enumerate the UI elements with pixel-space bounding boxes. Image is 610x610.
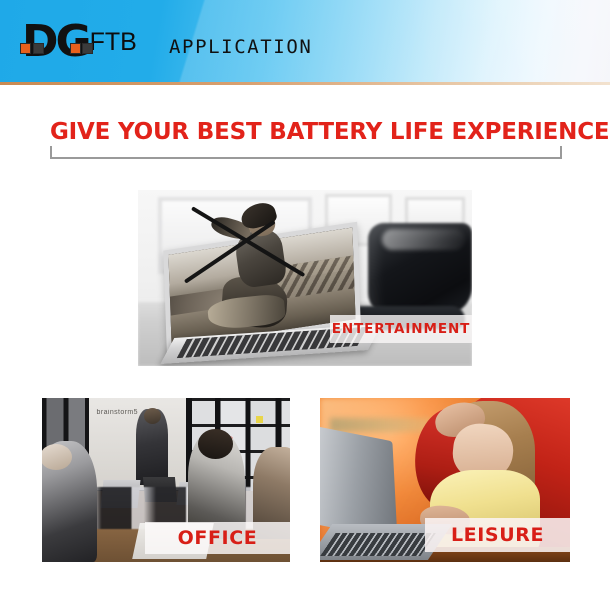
game-character-figure: [201, 195, 318, 332]
logo-square-icon: [70, 43, 81, 54]
headline-banner: GIVE YOUR BEST BATTERY LIFE EXPERIENCE: [50, 126, 562, 159]
logo-square-icon: [20, 43, 31, 54]
character-fallen-body-shape: [207, 293, 287, 331]
logo-dg-mark: DG: [22, 23, 89, 61]
brand-logo[interactable]: DG FTB: [22, 20, 137, 64]
page-header: DG FTB APPLICATION: [0, 0, 610, 82]
logo-ftb-text: FTB: [90, 28, 137, 57]
attendee-head-shape: [198, 429, 233, 459]
office-chair-highlight: [382, 229, 466, 250]
office-label-text: OFFICE: [178, 527, 258, 549]
logo-dg-text: DG: [22, 16, 89, 67]
office-photo-card: brainstorm5 OFFICE: [42, 398, 290, 562]
entertainment-label-text: ENTERTAINMENT: [332, 321, 471, 337]
leisure-label-chip: LEISURE: [425, 518, 570, 552]
background-shelf-shape: [330, 418, 430, 433]
laptop-keyboard-shape: [320, 533, 435, 556]
leisure-label-text: LEISURE: [451, 524, 544, 546]
logo-square-icon: [33, 43, 44, 54]
whiteboard-text: brainstorm5: [97, 409, 138, 416]
leisure-photo-card: LEISURE: [320, 398, 570, 562]
sticky-note-icon: [256, 416, 263, 423]
headline-text: GIVE YOUR BEST BATTERY LIFE EXPERIENCE: [50, 116, 562, 146]
logo-square-icon: [82, 43, 93, 54]
entertainment-label-chip: ENTERTAINMENT: [330, 315, 472, 343]
office-label-chip: OFFICE: [145, 522, 290, 554]
entertainment-photo-card: ENTERTAINMENT: [138, 190, 472, 366]
attendee-head-shape: [42, 444, 72, 470]
page-title: APPLICATION: [169, 36, 312, 58]
header-divider: [0, 82, 610, 85]
